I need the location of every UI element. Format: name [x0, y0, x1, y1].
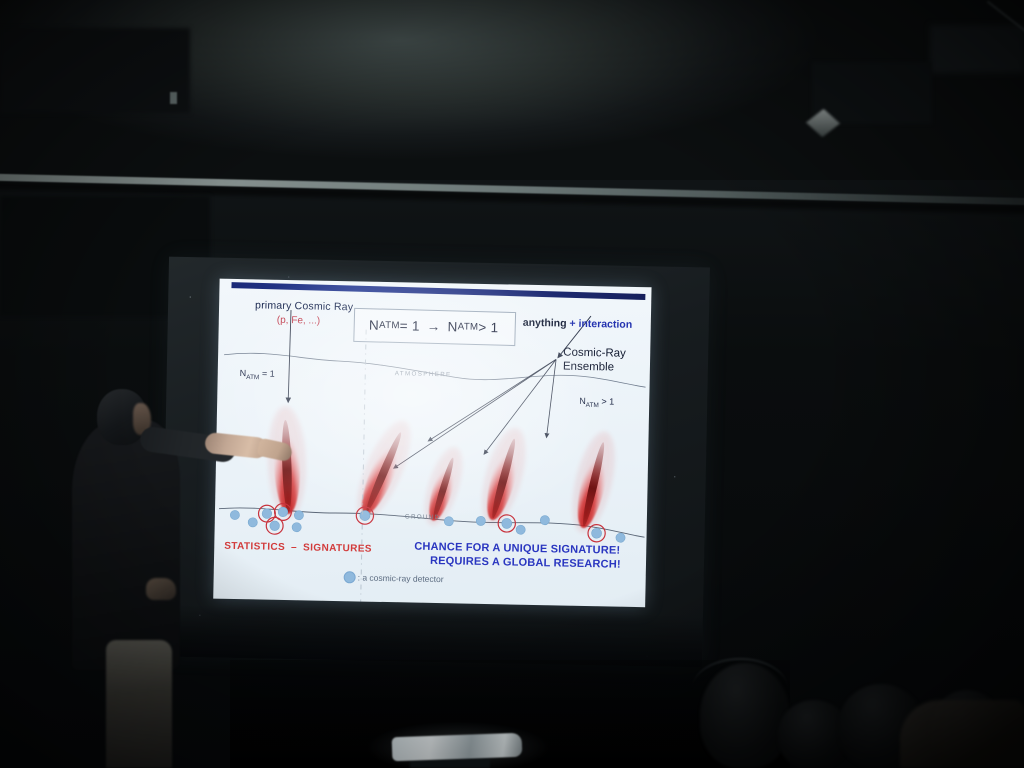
detector-dot [516, 525, 525, 534]
label-primary-particles: (p, Fe, ...) [277, 315, 321, 327]
screen-lower-shadow [161, 605, 703, 668]
detector-dot [292, 523, 301, 532]
detector-dot [294, 511, 303, 520]
ceiling-small-light [170, 92, 177, 104]
label-cosmic-ray-ensemble: Cosmic-RayEnsemble [563, 346, 644, 376]
label-primary-cosmic-ray: primary Cosmic Ray [255, 299, 353, 313]
natm-right-rel: > 1 [599, 396, 614, 406]
projection-screen[interactable]: primary Cosmic Ray (p, Fe, ...) anything… [161, 257, 710, 668]
formula-rhs-rel: > 1 [478, 319, 498, 334]
formula-lhs-rel: = 1 [400, 318, 420, 333]
detector-dot [248, 518, 257, 527]
label-dash: – [285, 542, 303, 553]
formula-rhs-n: N [447, 319, 457, 334]
detector-dot [230, 510, 239, 519]
detector-dot-hit [592, 528, 602, 538]
formula-lhs-n: N [369, 317, 379, 332]
detector-dot [476, 516, 485, 525]
formula-arrow-icon: → [420, 318, 448, 334]
detector-dot-hit [502, 518, 512, 528]
presenter-torso [72, 420, 180, 670]
label-interaction: + interaction [569, 318, 632, 331]
presenter-lower-hand [146, 578, 176, 600]
natm-right-sub: ATM [586, 402, 599, 409]
ceiling-duct-left [0, 28, 190, 113]
label-natm-equals-one: NATM = 1 [240, 368, 275, 381]
label-natm-greater-one: NATM > 1 [579, 396, 614, 409]
natm-left-sub: ATM [246, 374, 259, 381]
secondary-arrow-1 [428, 357, 556, 444]
label-statistics: STATISTICS [224, 541, 285, 553]
detector-dot-hit [262, 509, 272, 519]
label-atmosphere: ATMOSPHERE [395, 370, 452, 378]
label-anything-interaction: anything + interaction [523, 317, 633, 331]
shower-single-primary [264, 405, 310, 520]
presenter-legs [106, 640, 172, 768]
detector-dot [540, 516, 549, 525]
detector-dot [616, 533, 625, 542]
ceiling-strip-right [930, 25, 1024, 73]
label-ground: GROUND [405, 513, 440, 521]
formula-rhs-sub: ATM [458, 321, 479, 332]
label-signatures: SIGNATURES [303, 542, 372, 554]
natm-left-rel: = 1 [259, 368, 274, 378]
shower-ensemble-4 [564, 427, 623, 537]
audience-shoulder [900, 700, 1024, 768]
label-anything: anything [523, 317, 567, 330]
detector-dot-hit [270, 521, 280, 531]
secondary-arrow-4 [547, 359, 557, 437]
audience-head [700, 663, 790, 768]
shower-ensemble-3 [473, 423, 534, 530]
shower-ensemble-1 [346, 413, 421, 526]
formula-text: NATM = 1→NATM > 1 [353, 308, 514, 343]
label-detector-legend: : a cosmic-ray detector [358, 572, 444, 584]
detector-dot-hit [278, 507, 288, 517]
lectern-laptop-light [392, 733, 523, 762]
formula-lhs-sub: ATM [379, 319, 400, 330]
screenshot-root: primary Cosmic Ray (p, Fe, ...) anything… [0, 0, 1024, 768]
detector-dot [444, 517, 453, 526]
